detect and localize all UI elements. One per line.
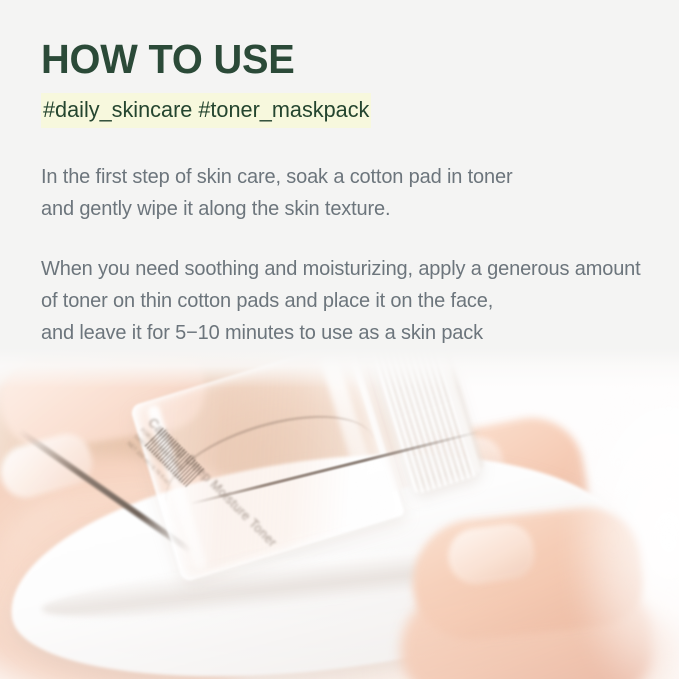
- paragraph-line: When you need soothing and moisturizing,…: [41, 253, 646, 285]
- instruction-text-block: HOW TO USE #daily_skincare #toner_maskpa…: [41, 0, 661, 349]
- page-title: HOW TO USE: [41, 38, 642, 80]
- photo-right-highlight: [549, 388, 679, 679]
- product-usage-photo: Calming Deep Moisture Toner FOR ALL SKIN…: [0, 348, 679, 679]
- paragraph-line: and leave it for 5−10 minutes to use as …: [41, 317, 646, 349]
- hashtag-highlight: #daily_skincare #toner_maskpack: [41, 93, 371, 128]
- product-instruction-graphic: HOW TO USE #daily_skincare #toner_maskpa…: [0, 0, 679, 679]
- hashtag-row: #daily_skincare #toner_maskpack: [41, 93, 376, 128]
- photo-top-fade: [0, 348, 679, 388]
- paragraph-line: and gently wipe it along the skin textur…: [41, 193, 646, 225]
- instruction-paragraph-1: In the first step of skin care, soak a c…: [41, 161, 646, 225]
- paragraph-line: of toner on thin cotton pads and place i…: [41, 285, 646, 317]
- instruction-paragraph-2: When you need soothing and moisturizing,…: [41, 253, 646, 349]
- paragraph-line: In the first step of skin care, soak a c…: [41, 161, 646, 193]
